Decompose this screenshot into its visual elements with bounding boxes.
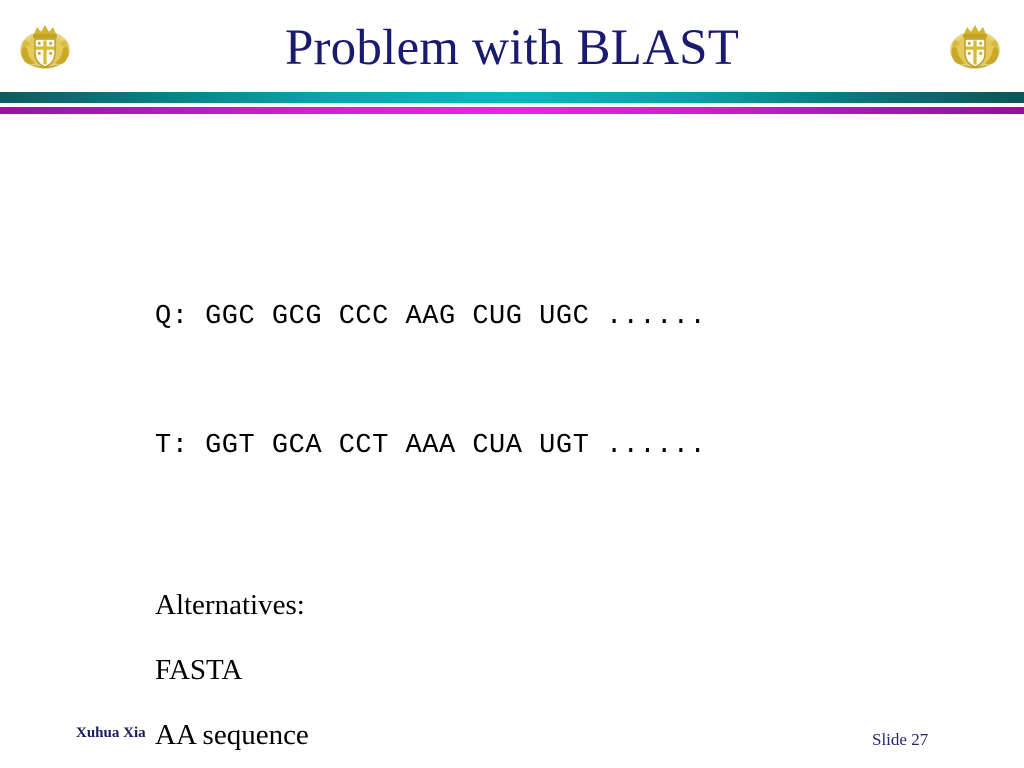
slide-body: Q: GGC GCG CCC AAG CUG UGC ...... T: GGT… [155, 210, 955, 752]
author-label: Xuhua Xia [76, 725, 146, 742]
bullet-alternatives: Alternatives: [155, 589, 955, 622]
bullet-fasta: FASTA [155, 654, 955, 687]
page-title: Problem with BLAST [0, 18, 1024, 78]
sequence-query-line: Q: GGC GCG CCC AAG CUG UGC ...... [155, 296, 955, 339]
header-rule-teal [0, 92, 1024, 103]
university-crest-icon-right [947, 20, 1003, 74]
sequence-alignment-block: Q: GGC GCG CCC AAG CUG UGC ...... T: GGT… [155, 210, 955, 554]
header-rule-magenta [0, 107, 1024, 114]
slide-header: Problem with BLAST [0, 0, 1024, 92]
sequence-target-line: T: GGT GCA CCT AAA CUA UGT ...... [155, 425, 955, 468]
slide-number-label: Slide 27 [872, 730, 928, 750]
bullet-aa-sequence: AA sequence [155, 719, 955, 752]
presentation-slide: Problem with BLAST [0, 0, 1024, 768]
